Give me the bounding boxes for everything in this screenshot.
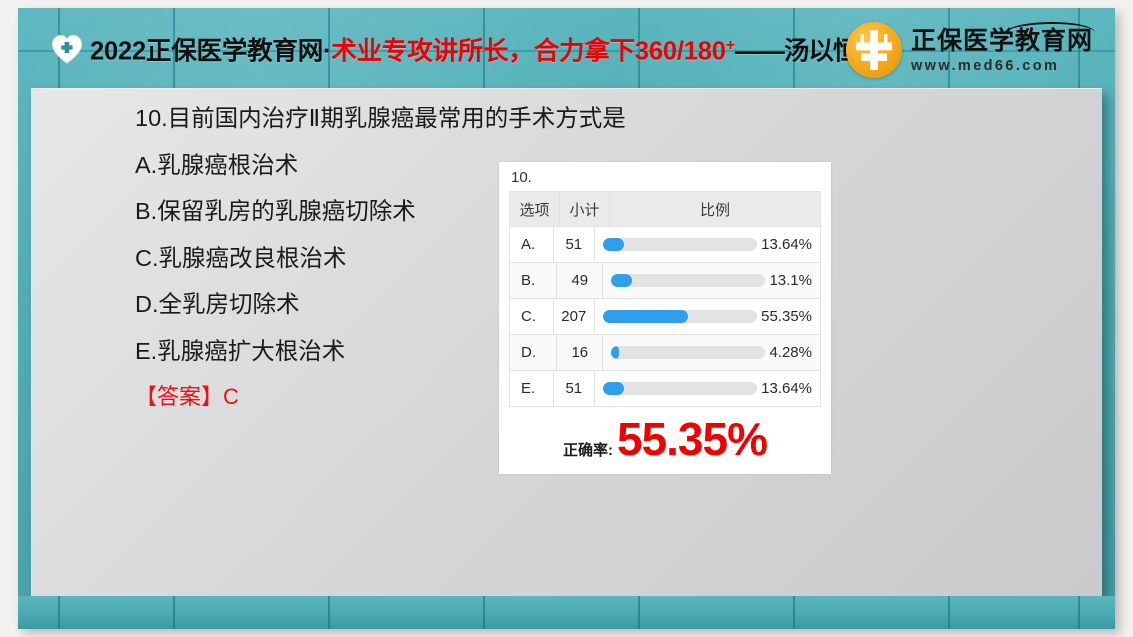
proportion-bar-track [603, 310, 757, 323]
proportion-bar-fill [603, 382, 624, 395]
strip-vline [1078, 596, 1080, 629]
proportion-bar-track [611, 274, 765, 287]
row-count: 49 [557, 263, 603, 298]
row-count: 207 [554, 299, 596, 334]
row-count: 16 [557, 335, 603, 370]
question-option-a: A.乳腺癌根治术 [135, 154, 555, 178]
header-title-highlight: 术业专攻讲所长，合力拿下360/180 [331, 38, 725, 66]
row-proportion: 4.28% [603, 335, 820, 370]
brand-logo: 正保医学教育网 www.med66.com [846, 22, 1093, 78]
brand-swoosh-icon [1003, 21, 1095, 37]
strip-vline [638, 596, 640, 629]
accuracy-line: 正确率: 55.35% [513, 416, 817, 462]
statistics-card: 10. 选项 小计 比例 A. 51 13.64% B. [499, 162, 831, 474]
proportion-label: 13.64% [757, 380, 812, 397]
proportion-label: 4.28% [765, 344, 812, 361]
accuracy-label: 正确率: [563, 439, 613, 460]
table-row: C. 207 55.35% [510, 299, 820, 335]
strip-vline [948, 596, 950, 629]
column-header-proportion: 比例 [610, 192, 820, 226]
row-count: 51 [554, 371, 596, 406]
slide-header: 2022正保医学教育网·术业专攻讲所长，合力拿下360/180+——汤以恒 [18, 8, 1115, 90]
statistics-table: 选项 小计 比例 A. 51 13.64% B. 49 [509, 191, 821, 407]
question-option-b: B.保留乳房的乳腺癌切除术 [135, 200, 555, 224]
question-option-e: E.乳腺癌扩大根治术 [135, 340, 555, 364]
strip-vline [58, 596, 60, 629]
table-header-row: 选项 小计 比例 [510, 192, 820, 227]
question-title: 10.目前国内治疗Ⅱ期乳腺癌最常用的手术方式是 [135, 107, 555, 131]
row-option: E. [510, 371, 554, 406]
proportion-label: 55.35% [757, 308, 812, 325]
heart-plus-icon [51, 34, 83, 64]
brand-name: 正保医学教育网 [911, 29, 1093, 54]
medical-cross-logo-icon [846, 22, 902, 78]
proportion-bar-fill [603, 310, 688, 323]
proportion-bar-fill [603, 238, 624, 251]
proportion-bar-track [603, 238, 757, 251]
row-proportion: 13.64% [595, 371, 820, 406]
brand-url: www.med66.com [911, 59, 1093, 74]
slide-canvas: 2022正保医学教育网·术业专攻讲所长，合力拿下360/180+——汤以恒 [0, 0, 1133, 637]
table-row: B. 49 13.1% [510, 263, 820, 299]
question-option-c: C.乳腺癌改良根治术 [135, 247, 555, 271]
proportion-bar-fill [611, 274, 631, 287]
row-option: B. [510, 263, 557, 298]
question-option-d: D.全乳房切除术 [135, 293, 555, 317]
strip-vline [173, 596, 175, 629]
header-title-prefix: 2022正保医学教育网· [90, 38, 331, 66]
row-option: A. [510, 227, 554, 262]
row-option: C. [510, 299, 554, 334]
row-proportion: 55.35% [595, 299, 820, 334]
header-title-suffix: ——汤以恒 [735, 38, 858, 66]
answer-value: C [223, 384, 239, 409]
proportion-label: 13.1% [765, 272, 812, 289]
answer-line: 【答案】C [135, 386, 555, 408]
strip-vline [793, 596, 795, 629]
bottom-decor-strip [18, 596, 1115, 629]
strip-vline [328, 596, 330, 629]
proportion-bar-fill [611, 346, 619, 359]
proportion-bar-track [611, 346, 765, 359]
header-title-superscript: + [726, 37, 735, 54]
answer-label: 【答案】 [135, 384, 223, 409]
proportion-label: 13.64% [757, 236, 812, 253]
table-row: A. 51 13.64% [510, 227, 820, 263]
proportion-bar-track [603, 382, 757, 395]
row-proportion: 13.1% [603, 263, 820, 298]
row-option: D. [510, 335, 557, 370]
question-block: 10.目前国内治疗Ⅱ期乳腺癌最常用的手术方式是 A.乳腺癌根治术 B.保留乳房的… [135, 107, 555, 408]
column-header-option: 选项 [510, 192, 560, 226]
strip-vline [483, 596, 485, 629]
content-panel: 10.目前国内治疗Ⅱ期乳腺癌最常用的手术方式是 A.乳腺癌根治术 B.保留乳房的… [31, 88, 1102, 597]
accuracy-value: 55.35% [617, 416, 767, 462]
header-title: 2022正保医学教育网·术业专攻讲所长，合力拿下360/180+——汤以恒 [90, 31, 857, 68]
row-proportion: 13.64% [595, 227, 820, 262]
table-row: E. 51 13.64% [510, 371, 820, 407]
row-count: 51 [554, 227, 596, 262]
statistics-question-number: 10. [499, 162, 831, 191]
table-row: D. 16 4.28% [510, 335, 820, 371]
column-header-count: 小计 [560, 192, 610, 226]
